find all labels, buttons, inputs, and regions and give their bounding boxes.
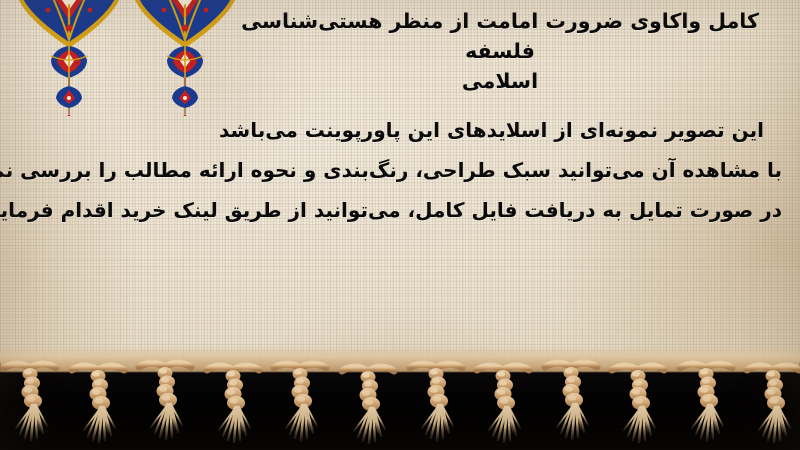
- fringe-tassel-row: [0, 354, 800, 450]
- slide-title-line-1: کامل واکاوی ضرورت امامت از منظر هستی‌شنا…: [222, 6, 778, 66]
- slide-title-line-2: اسلامی: [222, 66, 778, 96]
- presentation-slide: کامل واکاوی ضرورت امامت از منظر هستی‌شنا…: [0, 0, 800, 450]
- body-line-2: با مشاهده آن می‌توانید سبک طراحی، رنگ‌بن…: [18, 150, 782, 190]
- slide-title: کامل واکاوی ضرورت امامت از منظر هستی‌شنا…: [222, 6, 778, 96]
- body-line-1: این تصویر نمونه‌ای از اسلایدهای این پاور…: [18, 110, 782, 150]
- persian-carpet-pendant-ornament-left: [10, 0, 128, 116]
- carpet-fringe-tassels: [0, 362, 800, 450]
- slide-body: این تصویر نمونه‌ای از اسلایدهای این پاور…: [18, 110, 782, 230]
- body-line-3: در صورت تمایل به دریافت فایل کامل، می‌تو…: [18, 190, 782, 230]
